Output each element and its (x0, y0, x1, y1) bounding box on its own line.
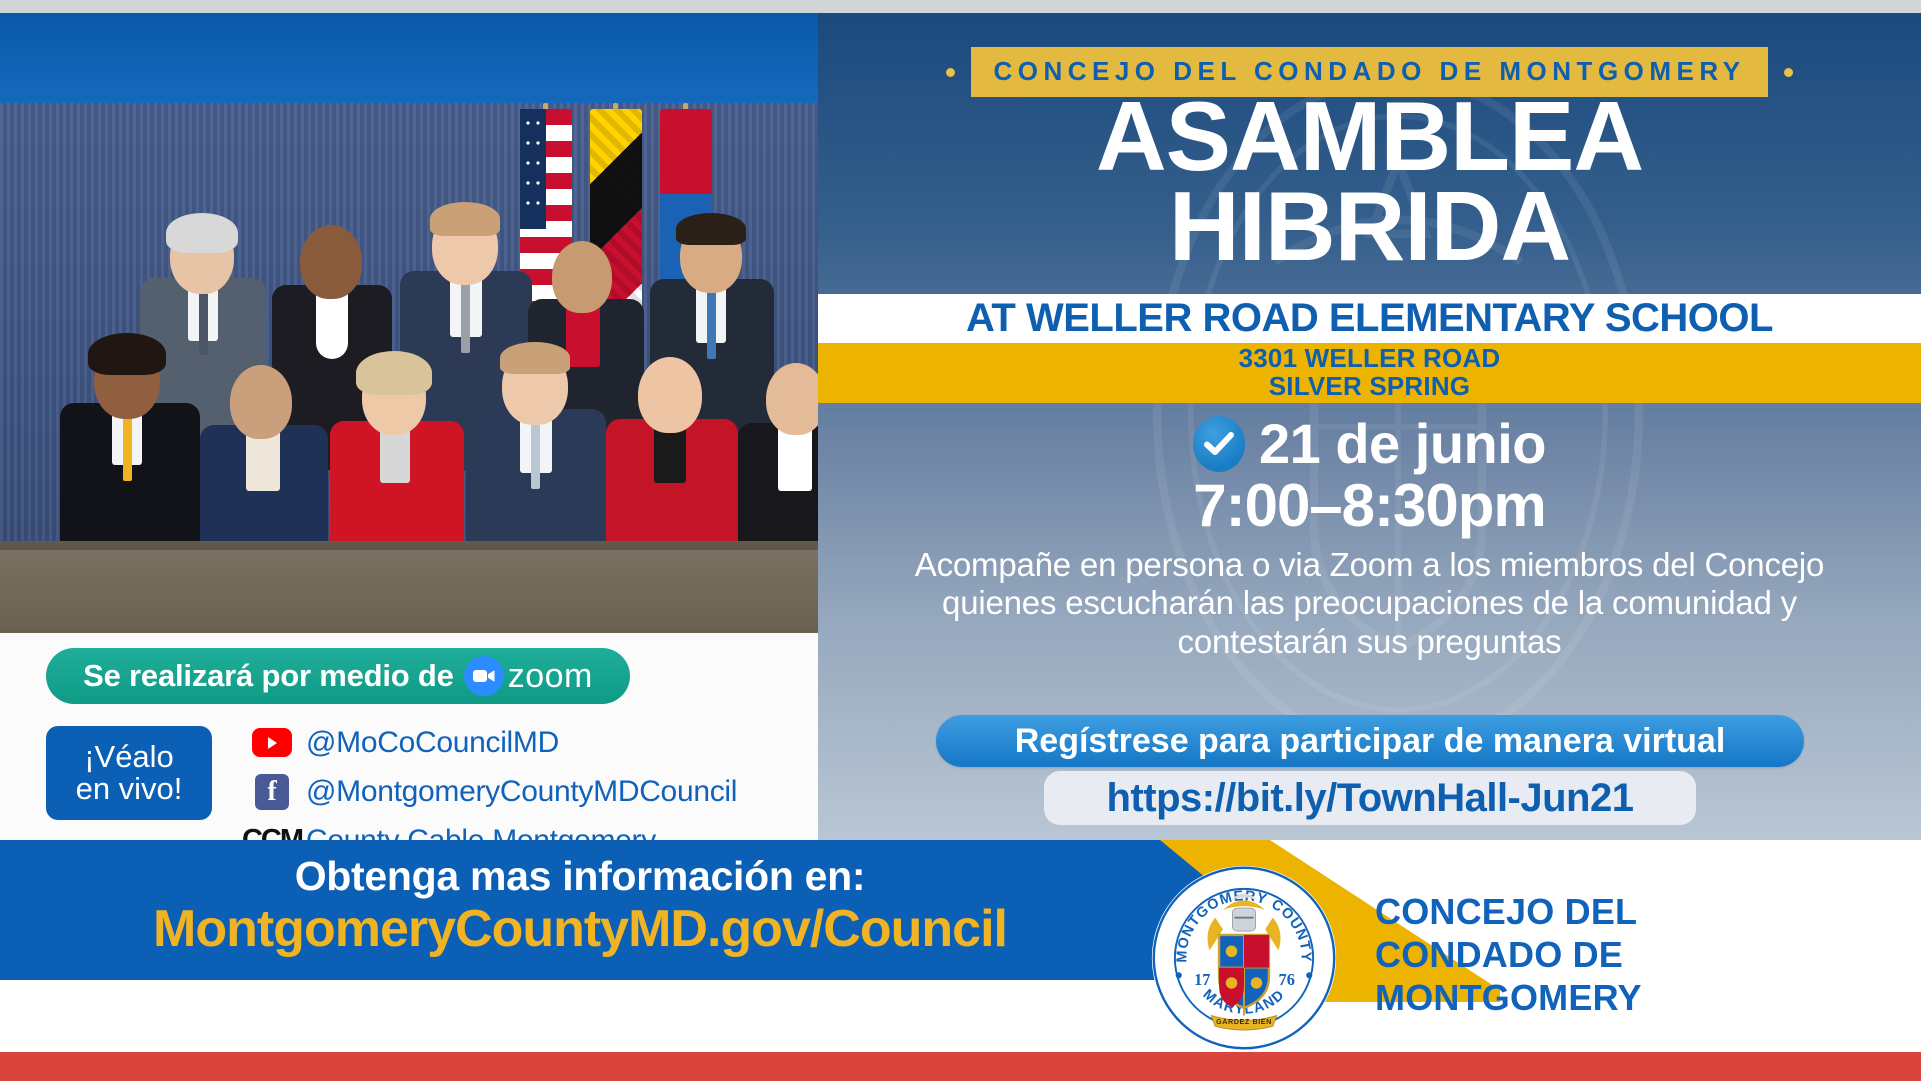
facebook-icon: f (252, 775, 292, 809)
footer-org-name: CONCEJO DEL CONDADO DE MONTGOMERY (1375, 890, 1642, 1020)
zoom-logo: zoom (464, 656, 593, 696)
poster-root: Se realizará por medio de zoom ¡Véalo en… (0, 0, 1921, 1081)
photo-floor (0, 541, 818, 633)
address-line-1: 3301 WELLER ROAD (1239, 345, 1501, 373)
checkmark-icon (1193, 416, 1245, 472)
svg-text:17: 17 (1194, 970, 1210, 989)
school-name-band: AT WELLER ROAD ELEMENTARY SCHOOL (818, 294, 1921, 343)
register-label: Regístrese para participar de manera vir… (1015, 722, 1726, 761)
footer: Obtenga mas información en: MontgomeryCo… (0, 840, 1921, 1081)
footer-info-label: Obtenga mas información en: (0, 854, 1160, 900)
event-time: 7:00–8:30pm (818, 471, 1921, 540)
zoom-announcement-pill: Se realizará por medio de zoom (46, 648, 630, 704)
address-line-2: SILVER SPRING (1269, 373, 1471, 401)
facebook-handle: @MontgomeryCountyMDCouncil (306, 775, 737, 809)
youtube-icon (252, 726, 292, 760)
youtube-handle: @MoCoCouncilMD (306, 726, 559, 760)
council-group-photo (0, 103, 818, 633)
event-date-row: 21 de junio (818, 411, 1921, 476)
address-band: 3301 WELLER ROAD SILVER SPRING (818, 343, 1921, 403)
social-row-youtube[interactable]: @MoCoCouncilMD (252, 718, 812, 767)
title-line-1: ASAMBLEA (818, 91, 1921, 181)
footer-org-line-3: MONTGOMERY (1375, 976, 1642, 1019)
footer-info: Obtenga mas información en: MontgomeryCo… (0, 854, 1160, 958)
school-name: AT WELLER ROAD ELEMENTARY SCHOOL (966, 296, 1773, 341)
watch-live-badge: ¡Véalo en vivo! (46, 726, 212, 820)
zoom-camera-icon (464, 656, 504, 696)
svg-text:GARDEZ BIEN: GARDEZ BIEN (1216, 1017, 1272, 1026)
zoom-wordmark: zoom (508, 657, 593, 696)
footer-website[interactable]: MontgomeryCountyMD.gov/Council (0, 900, 1160, 958)
register-url-box[interactable]: https://bit.ly/TownHall-Jun21 (1044, 771, 1696, 825)
watch-live-line1: ¡Véalo (84, 741, 174, 773)
kicker-dot-left (946, 68, 955, 77)
county-seal: MONTGOMERY COUNTY MARYLAND 17 76 (1148, 862, 1340, 1054)
footer-org-line-2: CONDADO DE (1375, 933, 1642, 976)
svg-text:76: 76 (1279, 970, 1295, 989)
register-button[interactable]: Regístrese para participar de manera vir… (936, 715, 1804, 767)
left-header-band (0, 13, 818, 103)
footer-org-line-1: CONCEJO DEL (1375, 890, 1642, 933)
watch-live-line2: en vivo! (76, 773, 183, 805)
event-date: 21 de junio (1259, 411, 1546, 476)
left-panel: Se realizará por medio de zoom ¡Véalo en… (0, 13, 818, 840)
event-description: Acompañe en persona o via Zoom a los mie… (882, 546, 1857, 661)
social-row-facebook[interactable]: f @MontgomeryCountyMDCouncil (252, 767, 812, 816)
right-panel: CONCEJO DEL CONDADO DE MONTGOMERY ASAMBL… (818, 13, 1921, 840)
zoom-pill-label: Se realizará por medio de (83, 658, 454, 694)
register-url: https://bit.ly/TownHall-Jun21 (1107, 776, 1634, 821)
title-line-2: HIBRIDA (818, 181, 1921, 271)
page-title: ASAMBLEA HIBRIDA (818, 91, 1921, 271)
kicker-dot-right (1784, 68, 1793, 77)
bottom-red-strip (0, 1052, 1921, 1081)
top-grey-strip (0, 0, 1921, 13)
